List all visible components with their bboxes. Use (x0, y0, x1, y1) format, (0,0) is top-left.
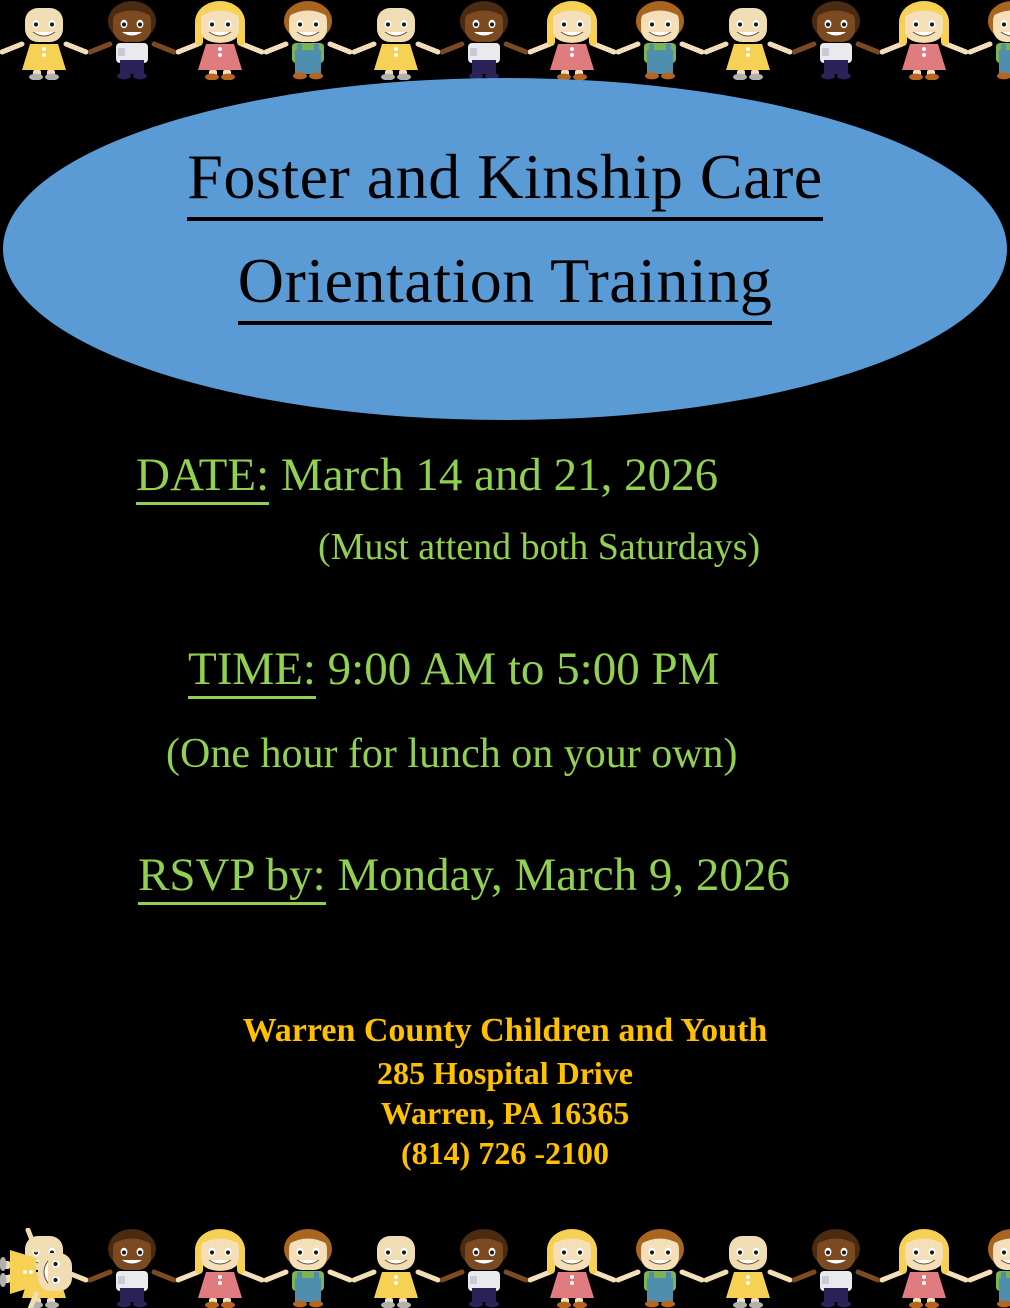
child-white-shirt-icon (88, 0, 176, 80)
child-yellow-dress-icon (0, 1228, 88, 1308)
border-bottom (0, 1228, 1010, 1308)
contact-organization: Warren County Children and Youth (88, 1010, 922, 1053)
child-yellow-dress-icon (0, 1228, 80, 1308)
child-yellow-dress-icon (352, 0, 440, 80)
child-pink-dress-icon (176, 0, 264, 80)
date-row: DATE: March 14 and 21, 2026 (136, 448, 718, 502)
contact-address: 285 Hospital Drive (88, 1053, 922, 1093)
child-pink-dress (880, 0, 968, 80)
child-yellow-dress-icon (704, 1228, 792, 1308)
child-white-shirt-icon (440, 1228, 528, 1308)
child-blue-overalls-icon (616, 0, 704, 80)
child-pink-dress-icon (528, 1228, 616, 1308)
border-strip-inner (0, 0, 1010, 80)
child-blue-overalls-icon (968, 1228, 1010, 1308)
child-yellow-dress (0, 1228, 80, 1308)
title-ellipse: Foster and Kinship Care Orientation Trai… (3, 78, 1007, 420)
child-white-shirt (792, 1228, 880, 1308)
child-pink-dress (528, 1228, 616, 1308)
child-yellow-dress (704, 0, 792, 80)
child-yellow-dress (352, 1228, 440, 1308)
page-title-line-1: Foster and Kinship Care (187, 139, 822, 221)
border-top (0, 0, 1010, 80)
child-white-shirt (792, 0, 880, 80)
child-blue-overalls-icon (264, 1228, 352, 1308)
child-yellow-dress (0, 0, 88, 80)
child-blue-overalls (616, 1228, 704, 1308)
contact-city-state-zip: Warren, PA 16365 (88, 1093, 922, 1133)
child-yellow-dress (352, 0, 440, 80)
child-yellow-dress-icon (352, 1228, 440, 1308)
child-blue-overalls (264, 1228, 352, 1308)
time-row: TIME: 9:00 AM to 5:00 PM (188, 642, 719, 696)
flyer-body: DATE: March 14 and 21, 2026 (Must attend… (88, 420, 922, 1228)
child-yellow-dress (704, 1228, 792, 1308)
page-title-line-2: Orientation Training (238, 243, 772, 325)
flyer-poster: Foster and Kinship Care Orientation Trai… (0, 0, 1010, 1308)
child-white-shirt (440, 1228, 528, 1308)
border-strip-inner (0, 1228, 80, 1308)
border-strip-inner (0, 1228, 1010, 1308)
date-note: (Must attend both Saturdays) (318, 525, 760, 569)
child-blue-overalls-icon (264, 0, 352, 80)
child-yellow-dress-icon (704, 0, 792, 80)
date-value: March 14 and 21, 2026 (269, 449, 718, 501)
child-pink-dress (176, 0, 264, 80)
time-value: 9:00 AM to 5:00 PM (316, 643, 720, 695)
child-pink-dress-icon (880, 1228, 968, 1308)
child-pink-dress (176, 1228, 264, 1308)
child-blue-overalls (968, 0, 1010, 80)
rsvp-row: RSVP by: Monday, March 9, 2026 (138, 848, 790, 902)
rsvp-value: Monday, March 9, 2026 (326, 849, 790, 901)
child-white-shirt-icon (440, 0, 528, 80)
child-white-shirt (88, 1228, 176, 1308)
contact-phone: (814) 726 -2100 (88, 1133, 922, 1173)
contact-block: Warren County Children and Youth 285 Hos… (88, 1010, 922, 1174)
child-yellow-dress-icon (0, 0, 88, 80)
child-blue-overalls (264, 0, 352, 80)
child-pink-dress (528, 0, 616, 80)
child-blue-overalls (616, 0, 704, 80)
child-blue-overalls (968, 1228, 1010, 1308)
child-white-shirt-icon (792, 0, 880, 80)
child-blue-overalls-icon (616, 1228, 704, 1308)
child-yellow-dress (0, 1228, 88, 1308)
child-white-shirt (88, 0, 176, 80)
time-label: TIME: (188, 643, 316, 699)
child-pink-dress-icon (528, 0, 616, 80)
child-pink-dress-icon (176, 1228, 264, 1308)
child-white-shirt (440, 0, 528, 80)
child-white-shirt-icon (792, 1228, 880, 1308)
time-note: (One hour for lunch on your own) (166, 730, 738, 778)
child-pink-dress-icon (880, 0, 968, 80)
child-white-shirt-icon (88, 1228, 176, 1308)
child-pink-dress (880, 1228, 968, 1308)
date-label: DATE: (136, 449, 269, 505)
child-blue-overalls-icon (968, 0, 1010, 80)
rsvp-label: RSVP by: (138, 849, 326, 905)
